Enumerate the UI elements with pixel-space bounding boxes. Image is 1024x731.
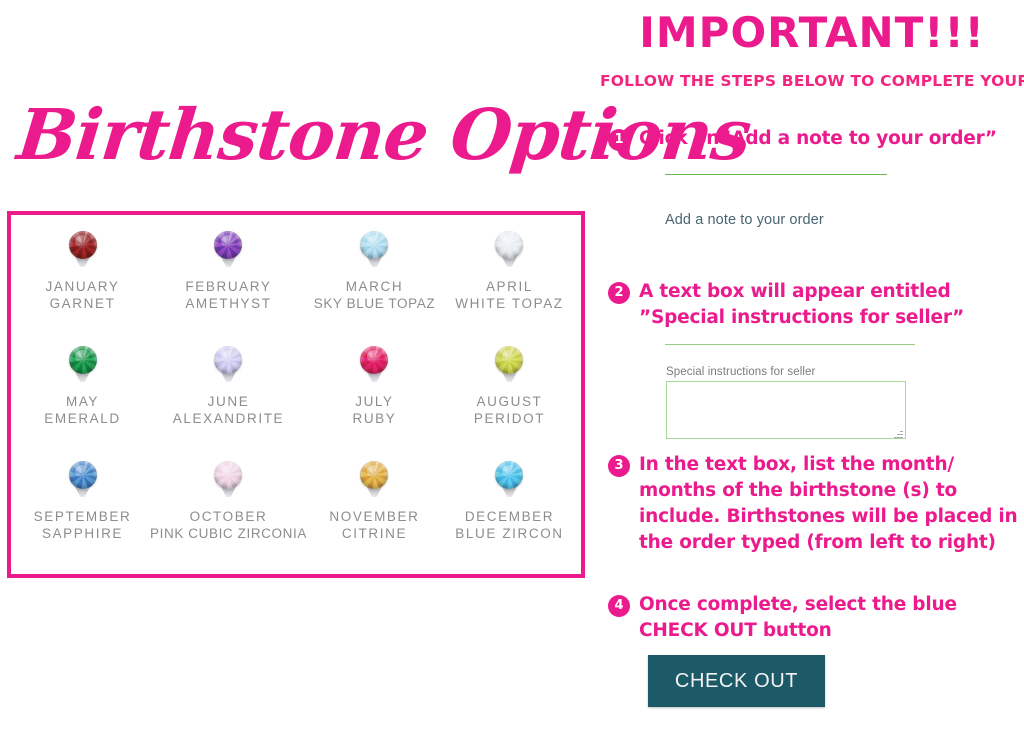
round-gem-icon xyxy=(66,461,100,497)
birthstone-label: JULYRUBY xyxy=(352,393,396,427)
birthstone-label: MARCHSKY BLUE TOPAZ xyxy=(314,278,435,312)
important-heading: IMPORTANT!!! xyxy=(600,8,1024,57)
birthstone-label: MAYEMERALD xyxy=(44,393,120,427)
birthstone-gem-name: PINK CUBIC ZIRCONIA xyxy=(150,525,307,542)
step-2-text: A text box will appear entitled ”Special… xyxy=(639,279,1020,331)
gem-stone xyxy=(214,231,242,259)
birthstone-label: DECEMBERBLUE ZIRCON xyxy=(455,508,563,542)
round-gem-icon xyxy=(357,461,391,497)
birthstone-month: APRIL xyxy=(455,278,563,295)
birthstone-label: SEPTEMBERSAPPHIRE xyxy=(34,508,132,542)
round-gem-icon xyxy=(357,231,391,267)
divider-rule-2 xyxy=(665,344,915,345)
birthstone-month: MARCH xyxy=(314,278,435,295)
gem-stone xyxy=(360,346,388,374)
birthstone-cell: SEPTEMBERSAPPHIRE xyxy=(15,453,150,568)
birthstone-cell: FEBRUARYAMETHYST xyxy=(150,223,307,338)
round-gem-icon xyxy=(211,346,245,382)
birthstone-gem-name: ALEXANDRITE xyxy=(173,410,284,427)
gem-stone xyxy=(495,231,523,259)
step-4: 4 Once complete, select the blue CHECK O… xyxy=(608,592,1020,644)
round-gem-icon xyxy=(492,231,526,267)
step-4-number: 4 xyxy=(608,595,630,617)
birthstone-grid-frame: JANUARYGARNETFEBRUARYAMETHYSTMARCHSKY BL… xyxy=(7,211,585,578)
gem-stone xyxy=(214,461,242,489)
birthstone-label: APRILWHITE TOPAZ xyxy=(455,278,563,312)
page-title: Birthstone Options xyxy=(14,96,582,174)
step-2-number: 2 xyxy=(608,282,630,304)
birthstone-options-panel: Birthstone Options JANUARYGARNETFEBRUARY… xyxy=(0,0,600,731)
gem-stone xyxy=(69,231,97,259)
divider-rule-1 xyxy=(665,174,887,175)
birthstone-grid: JANUARYGARNETFEBRUARYAMETHYSTMARCHSKY BL… xyxy=(11,215,581,574)
birthstone-label: NOVEMBERCITRINE xyxy=(329,508,419,542)
birthstone-label: JANUARYGARNET xyxy=(46,278,120,312)
birthstone-cell: MARCHSKY BLUE TOPAZ xyxy=(307,223,442,338)
gem-stone xyxy=(69,461,97,489)
birthstone-cell: APRILWHITE TOPAZ xyxy=(442,223,577,338)
birthstone-cell: OCTOBERPINK CUBIC ZIRCONIA xyxy=(150,453,307,568)
birthstone-cell: NOVEMBERCITRINE xyxy=(307,453,442,568)
birthstone-month: AUGUST xyxy=(474,393,545,410)
step-1: 1 Click on”Add a note to your order” xyxy=(608,126,1020,152)
step-3-text: In the text box, list the month/ months … xyxy=(639,452,1020,556)
round-gem-icon xyxy=(211,461,245,497)
step-1-text: Click on”Add a note to your order” xyxy=(639,126,997,152)
step-2: 2 A text box will appear entitled ”Speci… xyxy=(608,279,1020,331)
birthstone-month: MAY xyxy=(44,393,120,410)
step-1-number: 1 xyxy=(608,129,630,151)
step-3: 3 In the text box, list the month/ month… xyxy=(608,452,1020,556)
birthstone-label: JUNEALEXANDRITE xyxy=(173,393,284,427)
birthstone-label: AUGUSTPERIDOT xyxy=(474,393,545,427)
round-gem-icon xyxy=(66,346,100,382)
birthstone-month: JUNE xyxy=(173,393,284,410)
step-3-number: 3 xyxy=(608,455,630,477)
birthstone-gem-name: EMERALD xyxy=(44,410,120,427)
birthstone-gem-name: CITRINE xyxy=(329,525,419,542)
birthstone-cell: MAYEMERALD xyxy=(15,338,150,453)
gem-stone xyxy=(360,461,388,489)
birthstone-gem-name: AMETHYST xyxy=(185,295,271,312)
birthstone-gem-name: PERIDOT xyxy=(474,410,545,427)
gem-stone xyxy=(214,346,242,374)
birthstone-gem-name: WHITE TOPAZ xyxy=(455,295,563,312)
gem-stone xyxy=(495,461,523,489)
birthstone-gem-name: SKY BLUE TOPAZ xyxy=(314,295,435,312)
birthstone-label: OCTOBERPINK CUBIC ZIRCONIA xyxy=(150,508,307,542)
birthstone-month: FEBRUARY xyxy=(185,278,271,295)
round-gem-icon xyxy=(357,346,391,382)
birthstone-gem-name: RUBY xyxy=(352,410,396,427)
round-gem-icon xyxy=(492,461,526,497)
birthstone-month: JANUARY xyxy=(46,278,120,295)
add-note-link[interactable]: Add a note to your order xyxy=(665,212,824,228)
step-4-text: Once complete, select the blue CHECK OUT… xyxy=(639,592,1020,644)
birthstone-gem-name: BLUE ZIRCON xyxy=(455,525,563,542)
birthstone-gem-name: SAPPHIRE xyxy=(34,525,132,542)
check-out-button[interactable]: CHECK OUT xyxy=(648,655,825,707)
round-gem-icon xyxy=(211,231,245,267)
birthstone-cell: DECEMBERBLUE ZIRCON xyxy=(442,453,577,568)
birthstone-month: OCTOBER xyxy=(150,508,307,525)
round-gem-icon xyxy=(492,346,526,382)
birthstone-gem-name: GARNET xyxy=(46,295,120,312)
birthstone-label: FEBRUARYAMETHYST xyxy=(185,278,271,312)
instructions-panel: IMPORTANT!!! FOLLOW THE STEPS BELOW TO C… xyxy=(600,0,1024,731)
gem-stone xyxy=(360,231,388,259)
birthstone-month: DECEMBER xyxy=(455,508,563,525)
birthstone-month: NOVEMBER xyxy=(329,508,419,525)
birthstone-month: JULY xyxy=(352,393,396,410)
birthstone-cell: JUNEALEXANDRITE xyxy=(150,338,307,453)
birthstone-month: SEPTEMBER xyxy=(34,508,132,525)
gem-stone xyxy=(69,346,97,374)
birthstone-cell: JULYRUBY xyxy=(307,338,442,453)
instructions-subtitle: FOLLOW THE STEPS BELOW TO COMPLETE YOUR … xyxy=(600,72,1024,90)
birthstone-cell: JANUARYGARNET xyxy=(15,223,150,338)
special-instructions-label: Special instructions for seller xyxy=(666,366,815,378)
round-gem-icon xyxy=(66,231,100,267)
special-instructions-input[interactable] xyxy=(666,381,906,439)
birthstone-cell: AUGUSTPERIDOT xyxy=(442,338,577,453)
gem-stone xyxy=(495,346,523,374)
